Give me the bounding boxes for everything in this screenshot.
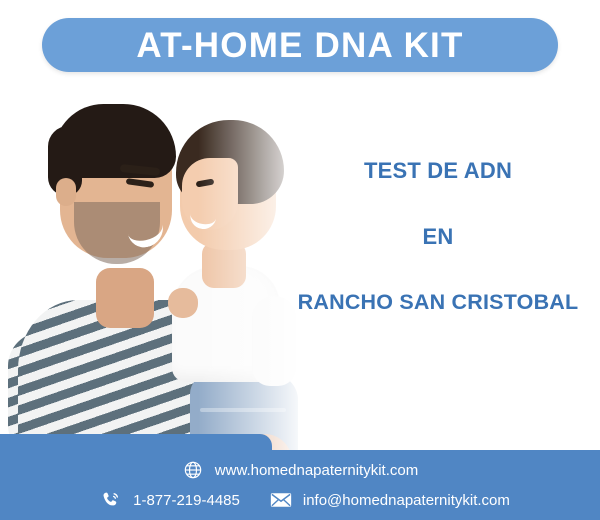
poster-canvas: AT-HOME DNA KIT xyxy=(0,0,600,520)
headline-line-3: RANCHO SAN CRISTOBAL xyxy=(276,292,600,314)
phone-item[interactable]: 1-877-219-4485 xyxy=(100,489,240,511)
website-label: www.homednapaternitykit.com xyxy=(215,462,418,479)
footer-row-website: www.homednapaternitykit.com xyxy=(0,455,600,485)
email-item[interactable]: info@homednapaternitykit.com xyxy=(270,489,510,511)
page-title: AT-HOME DNA KIT xyxy=(136,28,463,63)
phone-label: 1-877-219-4485 xyxy=(133,492,240,509)
headline-line-1: TEST DE ADN xyxy=(276,160,600,182)
man-neck xyxy=(96,268,154,328)
globe-icon xyxy=(182,459,204,481)
child-hand xyxy=(168,288,198,318)
family-photo xyxy=(0,82,320,457)
footer-contact-rows: www.homednapaternitykit.com 1-877-219-44… xyxy=(0,450,600,520)
photo-stage xyxy=(0,82,320,457)
email-label: info@homednapaternitykit.com xyxy=(303,492,510,509)
header-banner: AT-HOME DNA KIT xyxy=(42,18,558,72)
website-item[interactable]: www.homednapaternitykit.com xyxy=(182,459,418,481)
phone-icon xyxy=(100,489,122,511)
headline-line-2: EN xyxy=(276,226,600,248)
footer-row-contact: 1-877-219-4485 info@homednapaternitykit.… xyxy=(0,485,600,515)
envelope-icon xyxy=(270,489,292,511)
man-ear xyxy=(56,178,76,206)
headline-block: TEST DE ADN EN RANCHO SAN CRISTOBAL xyxy=(276,160,600,314)
